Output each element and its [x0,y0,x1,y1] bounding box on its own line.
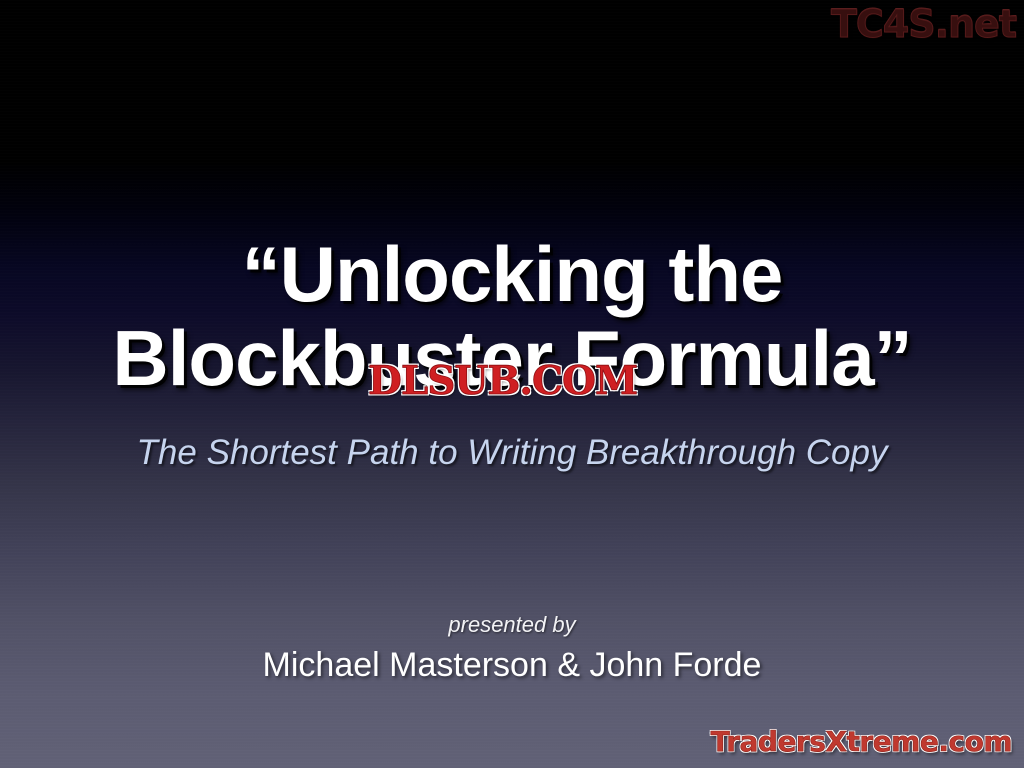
presentation-slide: TC4S.net “Unlocking the Blockbuster Form… [0,0,1024,768]
watermark-tc4s-net: TC4S.net [831,2,1016,46]
presenter-block: presented by Michael Masterson & John Fo… [0,612,1024,687]
watermark-dlsub-com: DLSUB.COM [368,358,637,404]
presented-by-label: presented by [0,612,1024,638]
presenter-names: Michael Masterson & John Forde [0,644,1024,687]
title-line-1: “Unlocking the [0,236,1024,312]
watermark-tradersxtreme-com: TradersXtreme.com [711,725,1012,758]
slide-subtitle: The Shortest Path to Writing Breakthroug… [0,434,1024,473]
